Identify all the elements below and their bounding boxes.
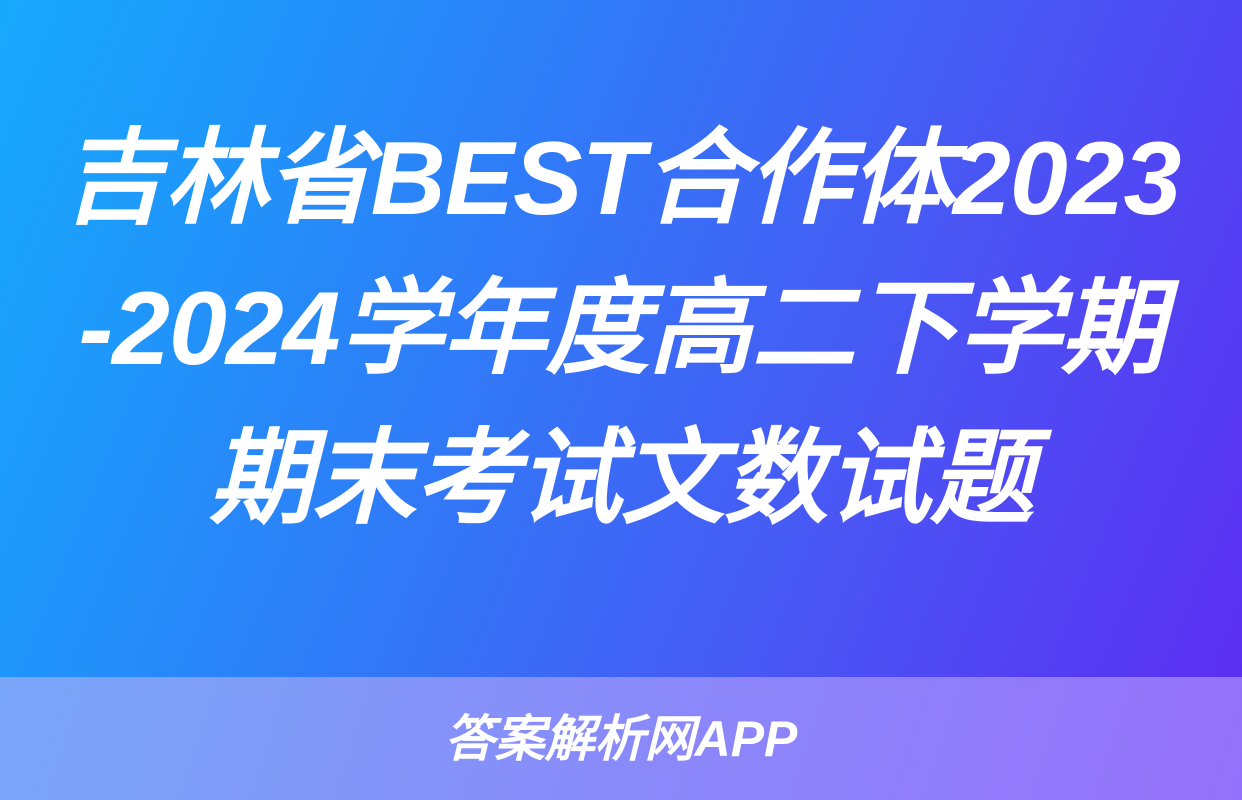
title-block: 吉林省BEST合作体2023 -2024学年度高二下学期 期末考试文数试题 [0,0,1242,677]
footer-brand-label: 答案解析网APP [445,714,798,764]
footer-brand-band: 答案解析网APP [0,677,1242,800]
title-line-1: 吉林省BEST合作体2023 [62,104,1181,254]
title-line-3: 期末考试文数试题 [209,404,1033,554]
exam-cover-card: 吉林省BEST合作体2023 -2024学年度高二下学期 期末考试文数试题 答案… [0,0,1242,800]
title-line-2: -2024学年度高二下学期 [79,254,1164,404]
